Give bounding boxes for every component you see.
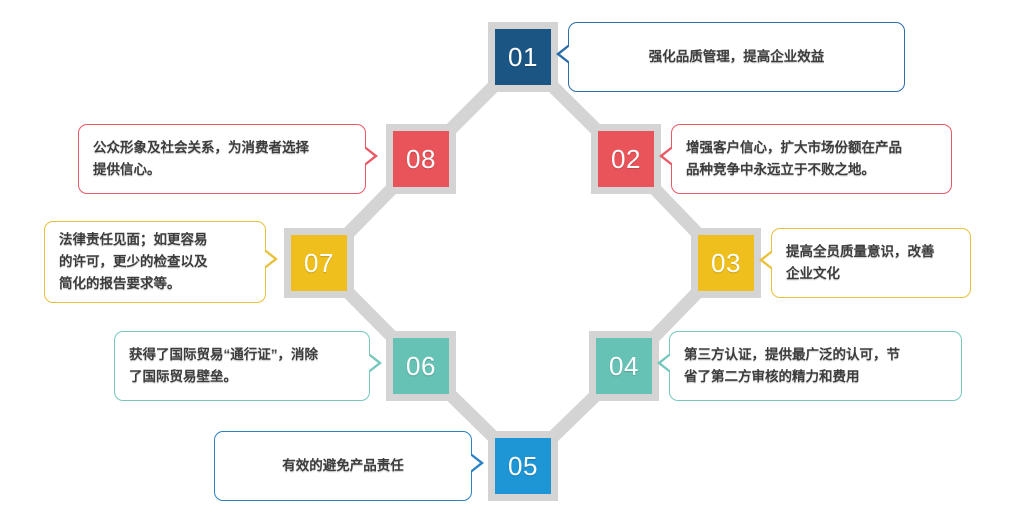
diagram-canvas: 01 强化品质管理，提高企业效益 02 增强客户信心，扩大市场份额在产品 品种竞… xyxy=(0,0,1031,525)
callout-text-01: 强化品质管理，提高企业效益 xyxy=(569,46,904,68)
callout-tail-inner-04 xyxy=(661,355,671,371)
node-box-08[interactable]: 08 xyxy=(386,124,456,194)
callout-line: 公众形象及社会关系，为消费者选择 xyxy=(93,137,351,159)
node-box-02[interactable]: 02 xyxy=(591,124,661,194)
ring-path xyxy=(319,57,726,466)
node-box-07[interactable]: 07 xyxy=(284,228,354,298)
callout-02[interactable]: 增强客户信心，扩大市场份额在产品 品种竞争中永远立于不败之地。 xyxy=(671,124,952,194)
callout-04[interactable]: 第三方认证，提供最广泛的认可，节 省了第二方审核的精力和费用 xyxy=(669,331,962,401)
callout-06[interactable]: 获得了国际贸易“通行证”，消除 了国际贸易壁垒。 xyxy=(114,331,370,401)
callout-03[interactable]: 提高全员质量意识，改善 企业文化 xyxy=(771,228,971,298)
callout-tail-inner-02 xyxy=(663,148,673,164)
node-number-07: 07 xyxy=(304,250,334,276)
callout-05[interactable]: 有效的避免产品责任 xyxy=(214,431,472,501)
callout-line: 法律责任见面；如更容易 xyxy=(59,229,251,251)
callout-line: 第三方认证，提供最广泛的认可，节 xyxy=(684,344,947,366)
node-number-08: 08 xyxy=(406,146,436,172)
callout-tail-inner-08 xyxy=(364,148,374,164)
callout-08[interactable]: 公众形象及社会关系，为消费者选择 提供信心。 xyxy=(78,124,366,194)
node-number-01: 01 xyxy=(508,44,538,70)
callout-line: 企业文化 xyxy=(786,263,956,285)
callout-line: 增强客户信心，扩大市场份额在产品 xyxy=(686,137,937,159)
callout-text-06: 获得了国际贸易“通行证”，消除 了国际贸易壁垒。 xyxy=(115,344,369,388)
callout-01[interactable]: 强化品质管理，提高企业效益 xyxy=(568,22,905,92)
node-box-06[interactable]: 06 xyxy=(386,331,456,401)
callout-line: 省了第二方审核的精力和费用 xyxy=(684,366,947,388)
callout-line: 提供信心。 xyxy=(93,159,351,181)
callout-text-08: 公众形象及社会关系，为消费者选择 提供信心。 xyxy=(79,137,365,181)
callout-line: 了国际贸易壁垒。 xyxy=(129,366,355,388)
callout-tail-inner-03 xyxy=(763,252,773,268)
callout-tail-inner-07 xyxy=(264,251,274,267)
node-number-06: 06 xyxy=(406,353,436,379)
callout-line: 品种竞争中永远立于不败之地。 xyxy=(686,159,937,181)
callout-text-07: 法律责任见面；如更容易 的许可，更少的检查以及 简化的报告要求等。 xyxy=(45,229,265,295)
callout-text-02: 增强客户信心，扩大市场份额在产品 品种竞争中永远立于不败之地。 xyxy=(672,137,951,181)
node-box-05[interactable]: 05 xyxy=(488,431,558,501)
node-number-04: 04 xyxy=(609,353,639,379)
callout-text-04: 第三方认证，提供最广泛的认可，节 省了第二方审核的精力和费用 xyxy=(670,344,961,388)
callout-text-03: 提高全员质量意识，改善 企业文化 xyxy=(772,241,970,285)
callout-tail-inner-06 xyxy=(368,355,378,371)
callout-line: 提高全员质量意识，改善 xyxy=(786,241,956,263)
callout-line: 的许可，更少的检查以及 xyxy=(59,251,251,273)
callout-text-05: 有效的避免产品责任 xyxy=(215,455,471,477)
node-box-01[interactable]: 01 xyxy=(488,22,558,92)
node-box-04[interactable]: 04 xyxy=(589,331,659,401)
node-number-05: 05 xyxy=(508,453,538,479)
callout-line: 简化的报告要求等。 xyxy=(59,273,251,295)
callout-tail-inner-05 xyxy=(470,455,480,471)
node-box-03[interactable]: 03 xyxy=(691,228,761,298)
node-number-03: 03 xyxy=(711,250,741,276)
callout-line: 获得了国际贸易“通行证”，消除 xyxy=(129,344,355,366)
node-number-02: 02 xyxy=(611,146,641,172)
callout-07[interactable]: 法律责任见面；如更容易 的许可，更少的检查以及 简化的报告要求等。 xyxy=(44,221,266,303)
callout-tail-inner-01 xyxy=(560,46,570,62)
